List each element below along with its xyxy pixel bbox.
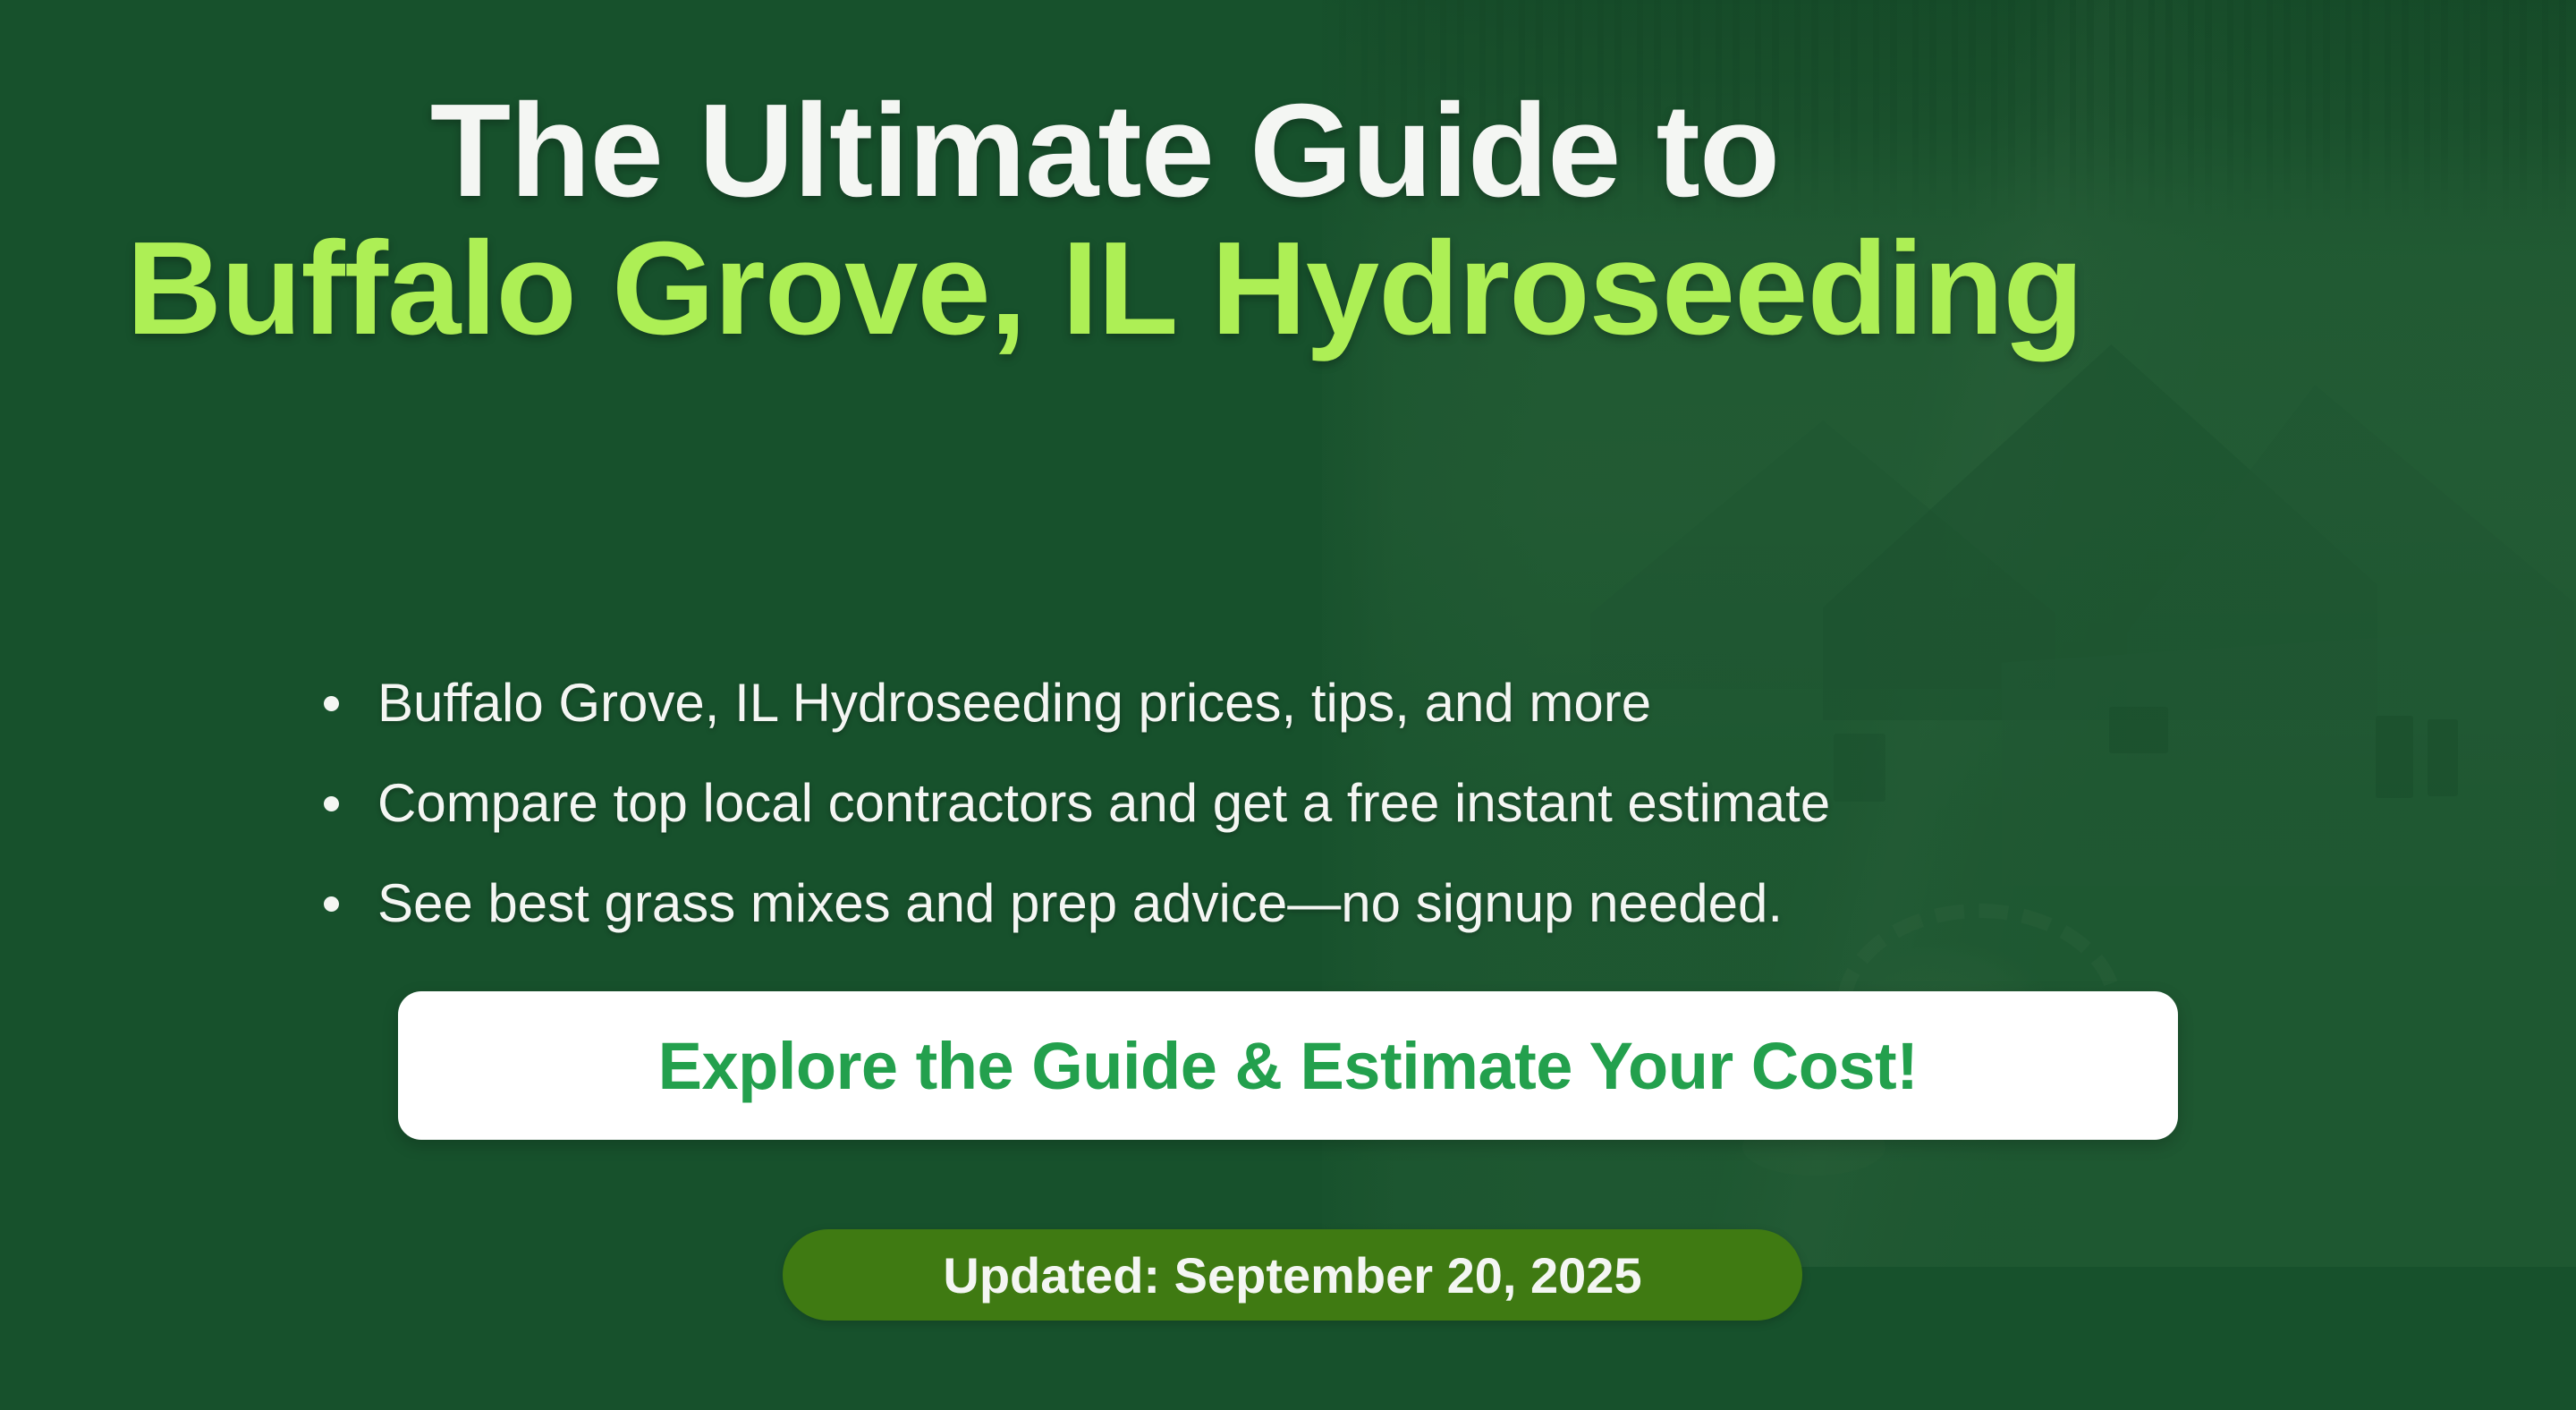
headline-line-1: The Ultimate Guide to xyxy=(0,82,2209,220)
page-title: The Ultimate Guide to Buffalo Grove, IL … xyxy=(0,82,2209,358)
feature-list: Buffalo Grove, IL Hydroseeding prices, t… xyxy=(315,673,2283,974)
hero-banner: The Ultimate Guide to Buffalo Grove, IL … xyxy=(0,0,2576,1410)
list-item: See best grass mixes and prep advice—no … xyxy=(315,873,2283,933)
headline-line-2: Buffalo Grove, IL Hydroseeding xyxy=(0,220,2209,358)
list-item: Buffalo Grove, IL Hydroseeding prices, t… xyxy=(315,673,2283,733)
list-item: Compare top local contractors and get a … xyxy=(315,773,2283,833)
banner-content: The Ultimate Guide to Buffalo Grove, IL … xyxy=(0,0,2576,1410)
explore-guide-button[interactable]: Explore the Guide & Estimate Your Cost! xyxy=(398,991,2178,1140)
updated-date-badge: Updated: September 20, 2025 xyxy=(783,1229,1802,1321)
